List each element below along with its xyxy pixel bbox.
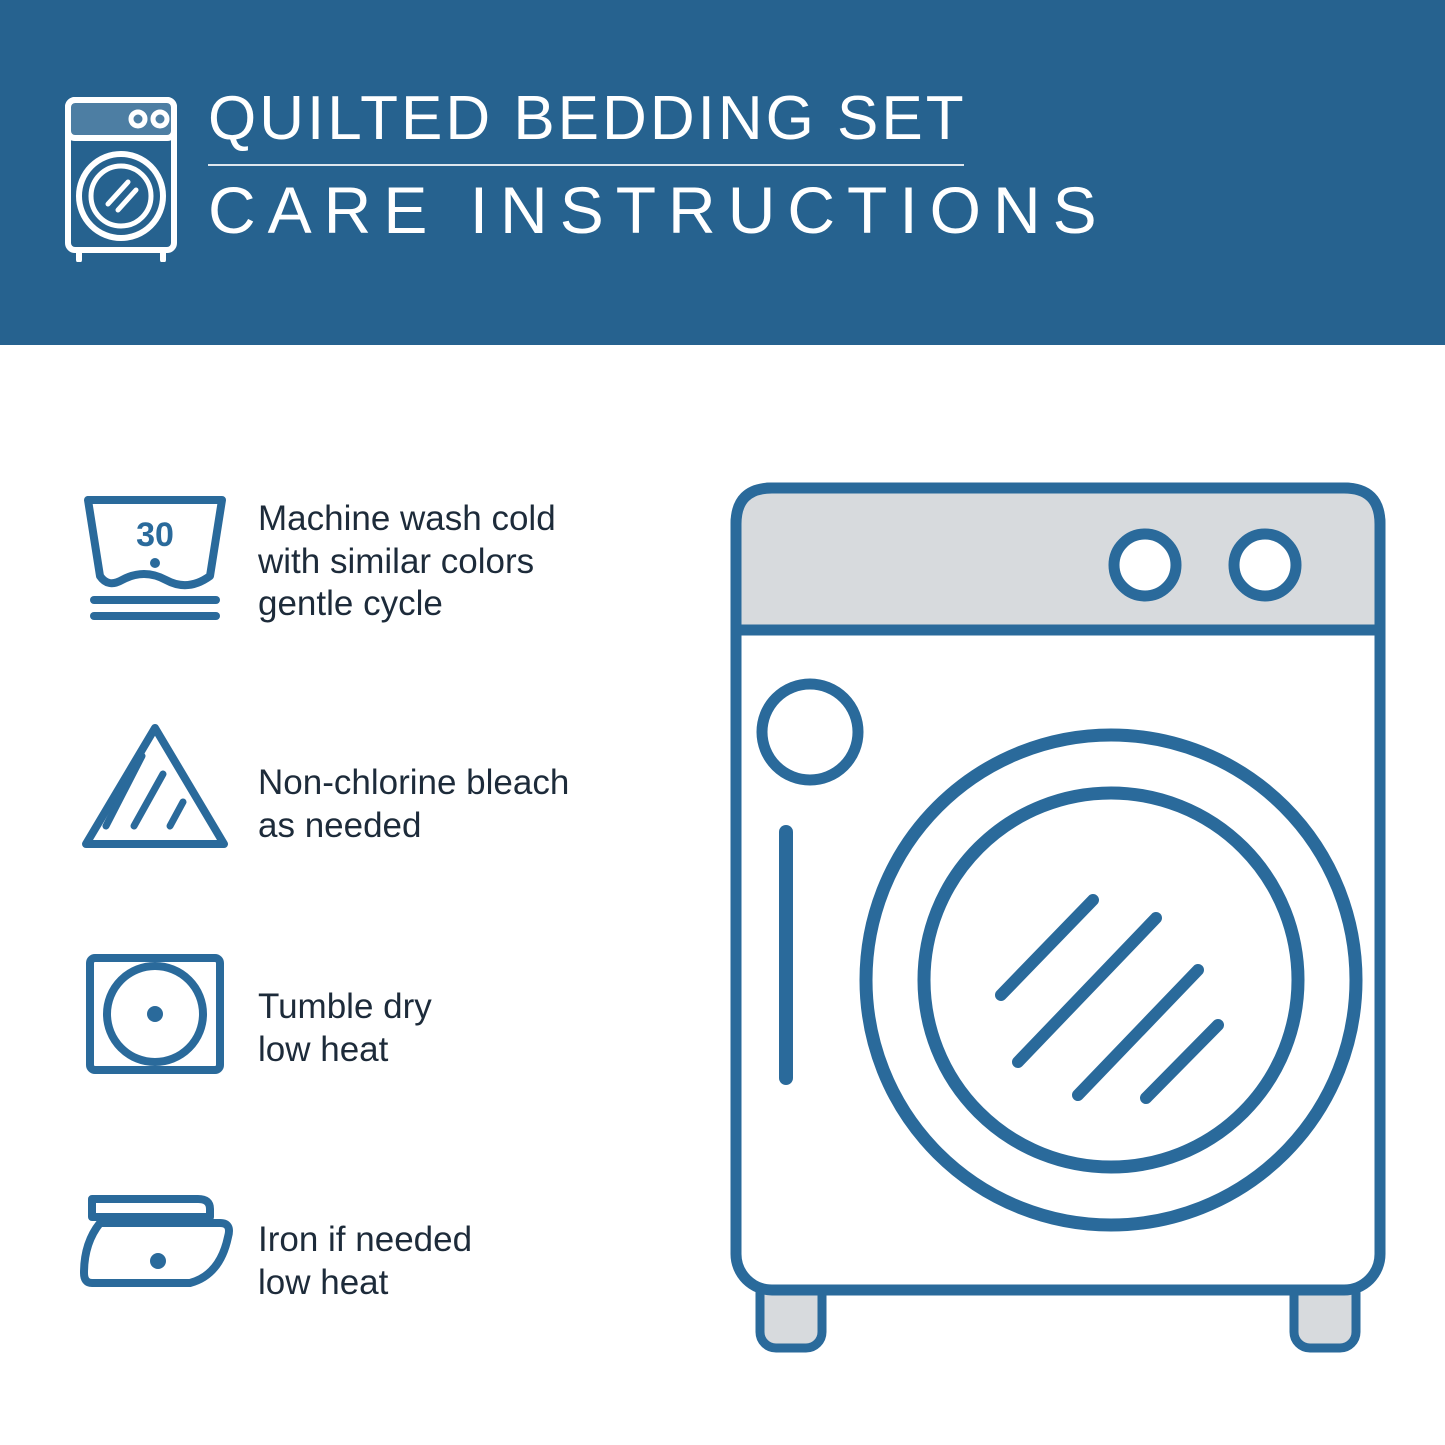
tumble-dry-low-icon [70,942,240,1087]
control-knob[interactable] [1114,534,1176,596]
page-title: QUILTED BEDDING SET [208,88,1109,158]
care-row: Non-chlorine bleach as needed [70,716,710,856]
wash-temperature-label: 30 [136,516,174,554]
indicator-circle [762,684,858,780]
iron-low-heat-icon [70,1173,240,1303]
header-banner: QUILTED BEDDING SET CARE INSTRUCTIONS [0,0,1445,345]
care-row-label: Iron if needed low heat [258,1173,472,1304]
care-row-label: Machine wash cold with similar colors ge… [258,480,556,626]
care-row-label: Tumble dry low heat [258,942,432,1071]
title-divider [208,164,964,166]
care-row: 30 Machine wash cold with similar colors… [70,480,710,630]
door-inner-ring [924,793,1298,1167]
care-instruction-list: 30 Machine wash cold with similar colors… [70,480,710,1304]
care-row: Iron if needed low heat [70,1173,710,1304]
non-chlorine-bleach-triangle-icon [70,716,240,856]
header-titles: QUILTED BEDDING SET CARE INSTRUCTIONS [208,88,1109,245]
care-instructions-page: QUILTED BEDDING SET CARE INSTRUCTIONS 30… [0,0,1445,1445]
detergent-bar [779,825,793,1085]
washing-machine-icon [62,94,180,262]
page-subtitle: CARE INSTRUCTIONS [208,176,1109,245]
care-row-label: Non-chlorine bleach as needed [258,716,569,847]
control-knob[interactable] [1234,534,1296,596]
front-load-washing-machine-illustration [718,470,1398,1380]
care-row: Tumble dry low heat [70,942,710,1087]
header-content: QUILTED BEDDING SET CARE INSTRUCTIONS [62,88,1109,262]
machine-wash-tub-icon: 30 [70,480,240,630]
